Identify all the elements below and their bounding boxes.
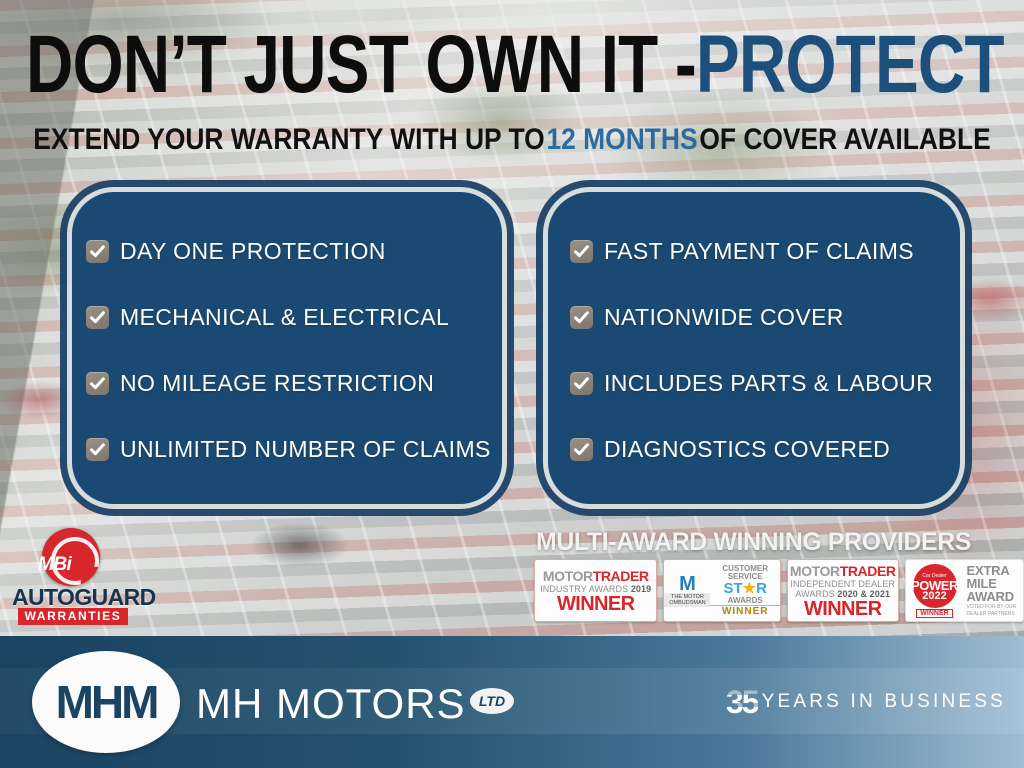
award-badge-customer-service-star: M THE MOTOR OMBUDSMAN CUSTOMER SERVICE S… <box>663 559 781 622</box>
badge-brand: MOTORTRADER <box>543 568 649 584</box>
mhm-monogram: MHM <box>56 675 157 729</box>
subheading-after-text: OF COVER AVAILABLE <box>699 123 990 157</box>
feature-item: DIAGNOSTICS COVERED <box>548 416 960 482</box>
feature-label: DIAGNOSTICS COVERED <box>604 436 890 463</box>
award-badges: MOTORTRADER INDUSTRY AWARDS 2019 WINNER … <box>534 559 1024 622</box>
award-badge-motortrader-2019: MOTORTRADER INDUSTRY AWARDS 2019 WINNER <box>534 559 657 622</box>
headline-dark-text: DON’T JUST OWN IT - <box>26 24 696 106</box>
star-right-text: R <box>756 580 767 597</box>
feature-item: MECHANICAL & ELECTRICAL <box>72 284 502 350</box>
feature-label: FAST PAYMENT OF CLAIMS <box>604 238 914 265</box>
feature-label: INCLUDES PARTS & LABOUR <box>604 370 933 397</box>
ombudsman-block: M THE MOTOR OMBUDSMAN <box>664 575 710 607</box>
badge-winner-label: WINNER <box>804 599 882 619</box>
check-icon <box>570 240 593 263</box>
badge-year: 2020 & 2021 <box>837 589 890 599</box>
star-icon: ★ <box>743 580 756 597</box>
check-icon <box>570 306 593 329</box>
subheading-highlight-text: 12 MONTHS <box>546 123 697 157</box>
ombudsman-label: THE MOTOR OMBUDSMAN <box>664 593 710 607</box>
badge-brand: MOTORTRADER <box>790 563 896 579</box>
years-number: 35 <box>726 684 758 721</box>
feature-item: FAST PAYMENT OF CLAIMS <box>548 218 960 284</box>
page-subheading: EXTEND YOUR WARRANTY WITH UP TO 12 MONTH… <box>61 124 962 156</box>
feature-list-right: FAST PAYMENT OF CLAIMS NATIONWIDE COVER … <box>548 192 960 482</box>
badge-brand-grey: MOTOR <box>790 563 840 579</box>
feature-item: NO MILEAGE RESTRICTION <box>72 350 502 416</box>
feature-label: DAY ONE PROTECTION <box>120 238 386 265</box>
subheading-before-text: EXTEND YOUR WARRANTY WITH UP TO <box>33 123 544 157</box>
badge-subtitle-line-2: AWARDS 2020 & 2021 <box>795 589 890 599</box>
autoguard-tagline: WARRANTIES <box>18 608 128 625</box>
feature-label: MECHANICAL & ELECTRICAL <box>120 304 449 331</box>
voted-line-2: DEALER PARTNERS <box>967 611 1024 617</box>
multi-award-title: MULTI-AWARD WINNING PROVIDERS <box>536 528 1019 556</box>
autoguard-mbi-mark: MBi <box>38 554 71 576</box>
feature-label: NO MILEAGE RESTRICTION <box>120 370 434 397</box>
badge-subtitle-text: INDUSTRY AWARDS <box>540 584 631 594</box>
feature-label: UNLIMITED NUMBER OF CLAIMS <box>120 436 491 463</box>
brand-name: MH MOTORS <box>196 680 466 728</box>
autoguard-warranties-logo: MBi AUTOGUARD WARRANTIES <box>12 528 134 626</box>
feature-list-left: DAY ONE PROTECTION MECHANICAL & ELECTRIC… <box>72 192 502 482</box>
headline-blue-text: PROTECT IT <box>696 24 1024 106</box>
power-label: POWER <box>911 581 958 591</box>
ltd-badge: LTD <box>470 688 514 714</box>
star-left-text: ST <box>723 580 742 597</box>
feature-item: UNLIMITED NUMBER OF CLAIMS <box>72 416 502 482</box>
check-icon <box>86 372 109 395</box>
features-panel-left: DAY ONE PROTECTION MECHANICAL & ELECTRIC… <box>72 192 502 504</box>
badge-brand-red: TRADER <box>593 568 649 584</box>
badge-winner-label: WINNER <box>557 594 635 614</box>
badge-winner-label: WINNER <box>710 605 780 617</box>
years-in-business: 35 YEARS IN BUSINESS <box>726 682 1006 722</box>
power-disc-icon: Car Dealer POWER 2022 <box>913 564 957 608</box>
mhm-logo: MHM <box>32 651 180 753</box>
power-year: 2022 <box>922 591 946 601</box>
badge-subtitle-text: AWARDS <box>795 589 837 599</box>
check-icon <box>86 240 109 263</box>
star-awards-block: CUSTOMER SERVICE ST★R AWARDS WINNER <box>710 565 780 617</box>
years-label: YEARS IN BUSINESS <box>762 691 1006 713</box>
ombudsman-m-icon: M <box>679 575 696 593</box>
feature-item: INCLUDES PARTS & LABOUR <box>548 350 960 416</box>
voted-line-1: VOTED FOR BY OUR <box>967 604 1024 610</box>
check-icon <box>570 372 593 395</box>
features-panel-right: FAST PAYMENT OF CLAIMS NATIONWIDE COVER … <box>548 192 960 504</box>
check-icon <box>86 306 109 329</box>
badge-line-3: AWARDS <box>728 596 763 605</box>
award-badge-extra-mile: Car Dealer POWER 2022 WINNER EXTRA MILE … <box>905 559 1024 622</box>
car-dealer-power-block: Car Dealer POWER 2022 WINNER <box>906 564 964 618</box>
page-headline: DON’T JUST OWN IT - PROTECT IT <box>26 24 810 106</box>
badge-line-3: AWARD <box>967 590 1024 603</box>
badge-subtitle: INDUSTRY AWARDS 2019 <box>540 584 651 594</box>
badge-star-line: ST★R <box>723 581 766 596</box>
check-icon <box>570 438 593 461</box>
badge-year: 2019 <box>631 584 651 594</box>
feature-item: DAY ONE PROTECTION <box>72 218 502 284</box>
feature-label: NATIONWIDE COVER <box>604 304 844 331</box>
badge-subtitle-line-1: INDEPENDENT DEALER <box>790 579 895 589</box>
badge-brand-red: TRADER <box>840 563 896 579</box>
award-badge-motortrader-2020-2021: MOTORTRADER INDEPENDENT DEALER AWARDS 20… <box>787 559 899 622</box>
extra-mile-block: EXTRA MILE AWARD VOTED FOR BY OUR DEALER… <box>964 564 1024 617</box>
autoguard-name: AUTOGUARD <box>12 584 134 611</box>
badge-brand-grey: MOTOR <box>543 568 593 584</box>
badge-winner-label: WINNER <box>916 609 952 618</box>
check-icon <box>86 438 109 461</box>
feature-item: NATIONWIDE COVER <box>548 284 960 350</box>
